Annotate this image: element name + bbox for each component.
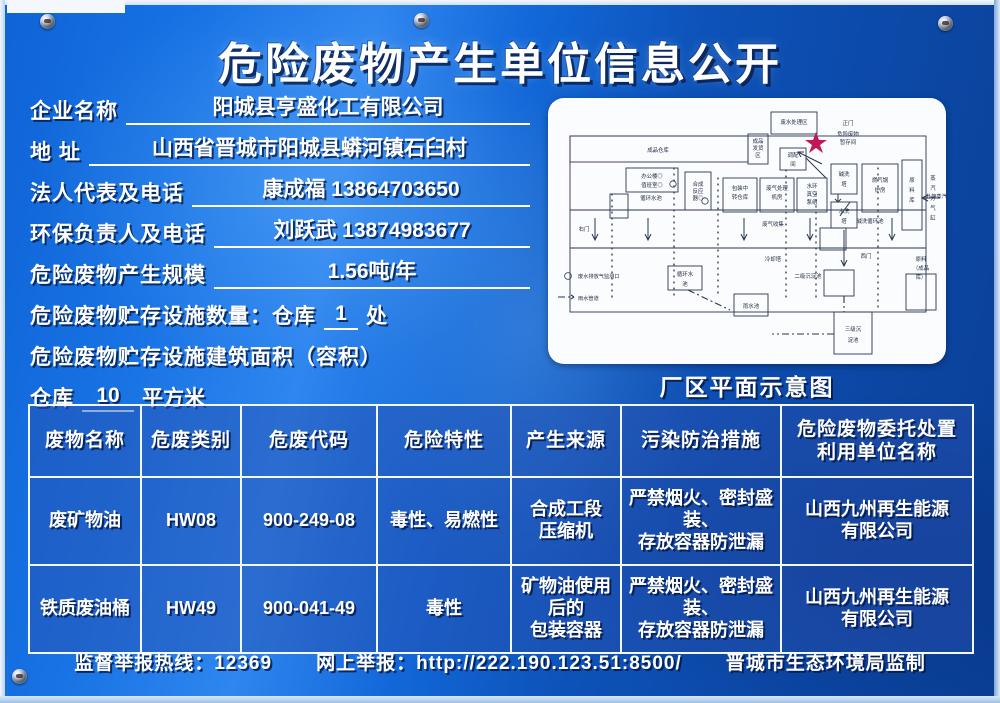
- svg-text:原料: 原料: [916, 255, 927, 263]
- table-header-disposal: 危险废物委托处置利用单位名称: [781, 405, 973, 477]
- footer-online-report: 网上举报：http://222.190.123.51:8500/: [316, 648, 682, 675]
- info-unit-facility-count: 处: [366, 300, 387, 330]
- info-label: 法人代表及电话: [30, 177, 184, 207]
- company-info-block: 企业名称 阳城县亨盛化工有限公司 地 址 山西省晋城市阳城县蟒河镇石臼村 法人代…: [30, 96, 530, 424]
- svg-text:料: 料: [909, 186, 915, 194]
- svg-text:燃气锅: 燃气锅: [872, 176, 889, 184]
- cell-hazard: 毒性: [377, 565, 511, 653]
- table-header-measures: 污染防治措施: [621, 405, 781, 477]
- cell-source: 合成工段压缩机: [511, 477, 621, 565]
- diagram-panel: 成品仓库 成品发货区 废水处理区 正门 危险废物暂存间 办公楼◎值班室◎ 循环水…: [548, 98, 946, 364]
- svg-text:库: 库: [909, 196, 915, 204]
- table-header-waste-name: 废物名称: [29, 405, 141, 477]
- footer-hotline: 监督举报热线：12369: [74, 648, 272, 675]
- page-title: 危险废物产生单位信息公开: [0, 28, 1000, 92]
- svg-text:暂存间: 暂存间: [840, 138, 856, 146]
- svg-text:值班室◎: 值班室◎: [641, 181, 663, 189]
- info-value-company-name: 阳城县亨盛化工有限公司: [126, 91, 530, 125]
- svg-text:机房: 机房: [772, 193, 783, 201]
- svg-text:塔: 塔: [841, 217, 847, 225]
- info-row-facility-count: 危险废物贮存设施数量：仓库 1 处: [30, 301, 530, 330]
- svg-text:危险废物: 危险废物: [837, 130, 859, 138]
- cell-waste-name: 铁质废油桶: [29, 565, 141, 653]
- cell-category: HW08: [141, 477, 241, 565]
- screw-icon: [414, 13, 429, 28]
- info-row-facility-area: 危险废物贮存设施建筑面积（容积）: [30, 342, 530, 371]
- svg-text:蒸: 蒸: [930, 174, 936, 182]
- cell-disposal: 山西九州再生能源有限公司: [781, 477, 973, 565]
- board-top-notch: [7, 0, 125, 13]
- cell-measures: 严禁烟火、密封盛装、存放容器防泄漏: [621, 477, 781, 565]
- info-row-company-name: 企业名称 阳城县亨盛化工有限公司: [30, 96, 530, 125]
- cell-code: 900-249-08: [241, 477, 377, 565]
- board-edge-top: [0, 0, 1000, 5]
- svg-text:器◎: 器◎: [693, 195, 704, 202]
- board-edge-left: [0, 0, 5, 703]
- footer: 监督举报热线：12369 网上举报：http://222.190.123.51:…: [0, 648, 1000, 675]
- svg-text:调配: 调配: [788, 151, 799, 159]
- table-header-hazard: 危险特性: [377, 405, 511, 477]
- hazardous-waste-marker: [805, 132, 827, 153]
- svg-text:碱洗: 碱洗: [839, 170, 850, 178]
- svg-text:右门: 右门: [579, 225, 590, 233]
- info-row-legal-rep: 法人代表及电话 康成福 13864703650: [30, 178, 530, 207]
- board-edge-bottom: [0, 696, 1000, 703]
- cell-source: 矿物油使用后的包装容器: [511, 565, 621, 653]
- info-row-waste-scale: 危险废物产生规模 1.56吨/年: [30, 260, 530, 289]
- svg-text:办公楼◎: 办公楼◎: [641, 172, 663, 180]
- svg-text:循环水池: 循环水池: [640, 194, 662, 202]
- plant-layout-diagram: 成品仓库 成品发货区 废水处理区 正门 危险废物暂存间 办公楼◎值班室◎ 循环水…: [548, 98, 946, 364]
- footer-authority: 晋城市生态环境局监制: [726, 648, 926, 675]
- svg-text:塔: 塔: [841, 180, 847, 188]
- svg-text:库）: 库）: [916, 273, 927, 281]
- svg-text:包装中: 包装中: [732, 184, 748, 192]
- table-header-code: 危废代码: [241, 405, 377, 477]
- svg-text:废水处理区: 废水处理区: [781, 118, 809, 126]
- info-label: 环保负责人及电话: [30, 218, 206, 248]
- svg-text:转仓库: 转仓库: [732, 193, 749, 201]
- svg-text:合成: 合成: [693, 180, 704, 188]
- info-row-env-officer: 环保负责人及电话 刘跃武 13874983677: [30, 219, 530, 248]
- table-header-row: 废物名称 危废类别 危废代码 危险特性 产生来源 污染防治措施 危险废物委托处置…: [29, 405, 973, 477]
- svg-text:废气处理: 废气处理: [766, 184, 788, 192]
- info-label: 危险废物贮存设施数量：仓库: [30, 300, 316, 330]
- svg-text:成品仓库: 成品仓库: [647, 146, 669, 154]
- svg-text:西门: 西门: [861, 252, 872, 260]
- svg-text:废水排放气监测口: 废水排放气监测口: [578, 272, 620, 280]
- svg-text:成品: 成品: [753, 137, 764, 145]
- svg-text:外接蒸汽: 外接蒸汽: [926, 192, 946, 200]
- svg-text:反应: 反应: [693, 187, 704, 195]
- info-label: 地 址: [30, 136, 81, 166]
- info-label-facility-area: 危险废物贮存设施建筑面积（容积）: [30, 341, 382, 371]
- svg-text:水洗: 水洗: [839, 207, 850, 215]
- svg-text:三级沉: 三级沉: [845, 325, 862, 333]
- table-header-source: 产生来源: [511, 405, 621, 477]
- svg-text:真空: 真空: [807, 190, 818, 198]
- svg-text:冷却塔: 冷却塔: [765, 255, 782, 263]
- diagram-caption: 厂区平面示意图: [548, 368, 946, 402]
- svg-text:碱洗循环池: 碱洗循环池: [857, 217, 885, 225]
- hazardous-waste-table: 废物名称 危废类别 危废代码 危险特性 产生来源 污染防治措施 危险废物委托处置…: [28, 404, 974, 654]
- svg-text:淀池: 淀池: [848, 336, 859, 344]
- board-edge-right: [994, 0, 1000, 703]
- svg-text:废气收集: 废气收集: [762, 220, 784, 228]
- info-value-legal-rep: 康成福 13864703650: [192, 173, 530, 207]
- svg-text:泵组: 泵组: [807, 198, 818, 206]
- svg-text:发货: 发货: [753, 144, 764, 152]
- table-row: 铁质废油桶 HW49 900-041-49 毒性 矿物油使用后的包装容器 严禁烟…: [29, 565, 973, 653]
- table-header-category: 危废类别: [141, 405, 241, 477]
- info-label: 危险废物产生规模: [30, 259, 206, 289]
- svg-text:汽: 汽: [930, 184, 936, 192]
- svg-text:雨水池: 雨水池: [743, 302, 760, 310]
- svg-text:炉房: 炉房: [875, 186, 886, 194]
- cell-code: 900-041-49: [241, 565, 377, 653]
- svg-text:（成品: （成品: [913, 264, 929, 272]
- svg-text:原: 原: [909, 177, 915, 184]
- svg-text:间: 间: [790, 160, 795, 168]
- table-row: 废矿物油 HW08 900-249-08 毒性、易燃性 合成工段压缩机 严禁烟火…: [29, 477, 973, 565]
- screw-icon: [40, 14, 55, 29]
- svg-text:雨水管道: 雨水管道: [578, 294, 599, 302]
- svg-text:水环: 水环: [807, 182, 818, 190]
- cell-disposal: 山西九州再生能源有限公司: [781, 565, 973, 653]
- svg-text:区: 区: [755, 152, 761, 159]
- info-value-env-officer: 刘跃武 13874983677: [214, 214, 530, 248]
- info-value-facility-count: 1: [324, 302, 358, 330]
- svg-text:池: 池: [682, 280, 688, 288]
- info-label: 企业名称: [30, 95, 118, 125]
- info-value-waste-scale: 1.56吨/年: [214, 255, 530, 289]
- svg-text:气: 气: [930, 204, 936, 212]
- info-row-address: 地 址 山西省晋城市阳城县蟒河镇石臼村: [30, 137, 530, 166]
- cell-waste-name: 废矿物油: [29, 477, 141, 565]
- svg-text:正门: 正门: [843, 119, 854, 127]
- cell-measures: 严禁烟火、密封盛装、存放容器防泄漏: [621, 565, 781, 653]
- svg-text:缸: 缸: [930, 214, 936, 222]
- plant-layout-svg: 成品仓库 成品发货区 废水处理区 正门 危险废物暂存间 办公楼◎值班室◎ 循环水…: [548, 98, 946, 364]
- information-board: 危险废物产生单位信息公开 企业名称 阳城县亨盛化工有限公司 地 址 山西省晋城市…: [0, 0, 1000, 703]
- cell-category: HW49: [141, 565, 241, 653]
- info-value-address: 山西省晋城市阳城县蟒河镇石臼村: [89, 132, 530, 166]
- svg-text:二级沉淀池: 二级沉淀池: [795, 272, 823, 280]
- cell-hazard: 毒性、易燃性: [377, 477, 511, 565]
- svg-text:循环水: 循环水: [677, 270, 694, 278]
